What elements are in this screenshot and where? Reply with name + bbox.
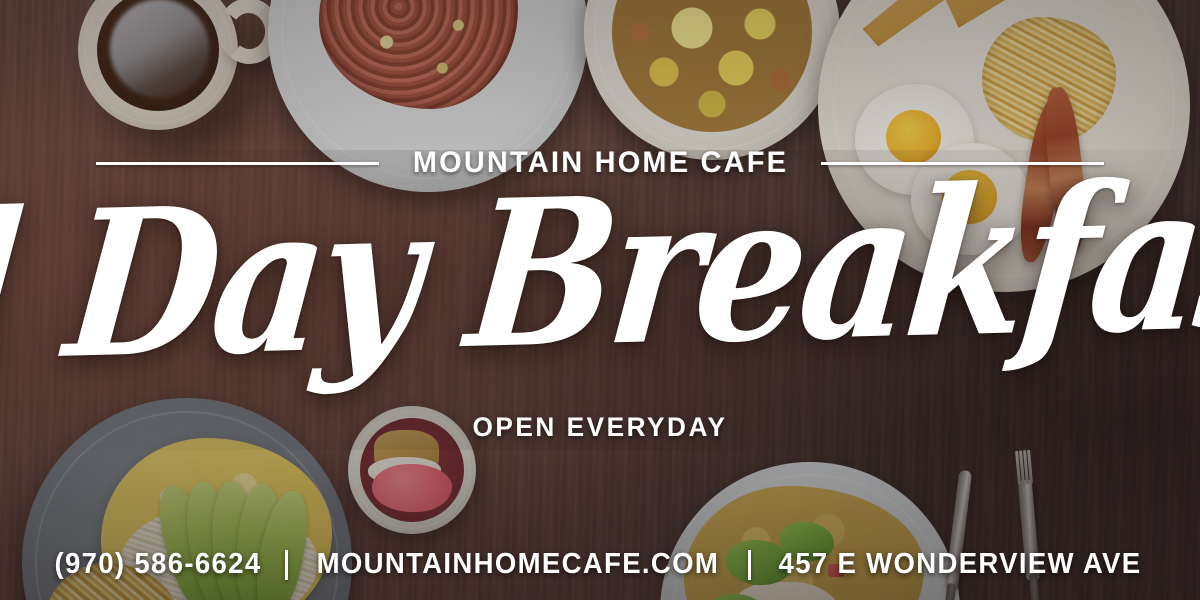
separator-icon xyxy=(748,550,751,580)
separator-icon xyxy=(285,550,288,580)
headline: All Day Breakfast! xyxy=(0,151,1200,394)
website-url[interactable]: MOUNTAINHOMECAFE.COM xyxy=(317,548,720,581)
poster-content: MOUNTAIN HOME CAFE All Day Breakfast! OP… xyxy=(0,0,1200,600)
contact-bar: (970) 586-6624 MOUNTAINHOMECAFE.COM 457 … xyxy=(0,548,1200,581)
subtitle: OPEN EVERYDAY xyxy=(18,412,1182,443)
street-address[interactable]: 457 E WONDERVIEW AVE xyxy=(778,548,1141,581)
promo-poster: MOUNTAIN HOME CAFE All Day Breakfast! OP… xyxy=(0,0,1200,600)
headline-wrap: All Day Breakfast! xyxy=(0,186,1200,360)
phone-number[interactable]: (970) 586-6624 xyxy=(55,548,262,581)
